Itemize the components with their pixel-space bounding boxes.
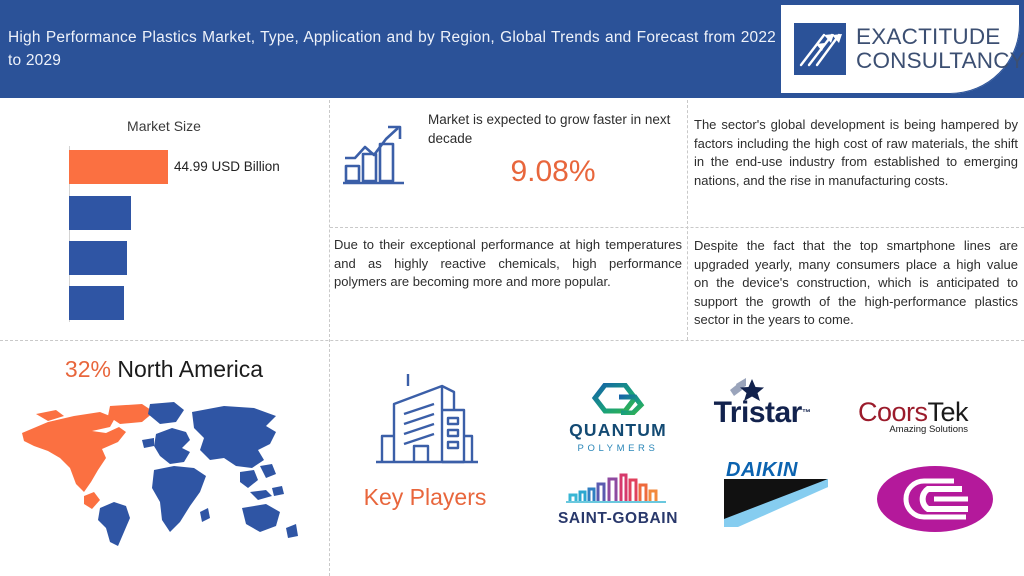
tristar-trademark: ™	[802, 408, 811, 418]
coorstek-wordmark-icon: CoorsTek Amazing Solutions	[858, 397, 968, 435]
infographic-page: High Performance Plastics Market, Type, …	[0, 0, 1024, 576]
quantum-subtitle: POLYMERS	[569, 443, 667, 454]
coors-part-b: Tek	[928, 397, 969, 427]
growth-headline: Market is expected to grow faster in nex…	[428, 110, 678, 148]
chart-bar[interactable]	[69, 286, 124, 320]
tristar-star-icon	[728, 378, 768, 404]
region-heading: 32% North America	[0, 356, 328, 383]
chart-value-label: 44.99 USD Billion	[174, 159, 280, 174]
logo-quantum-polymers: QUANTUM POLYMERS	[548, 382, 688, 454]
divider-vertical-right	[687, 100, 688, 340]
logo-coorstek: CoorsTek Amazing Solutions	[838, 386, 988, 446]
logo-tristar: Tristar™	[692, 382, 832, 444]
daikin-triangle-icon: DAIKIN	[724, 461, 836, 527]
upward-arrows-icon	[794, 23, 846, 75]
driver-paragraph: Due to their exceptional performance at …	[334, 236, 682, 292]
company-logo-text: EXACTITUDE CONSULTANCY	[856, 25, 1024, 72]
key-players-panel: Key Players	[330, 356, 520, 556]
divider-horizontal-mid	[330, 227, 1024, 228]
coors-part-a: Coors	[858, 397, 928, 427]
chart-plot-area: 2029 44.99 USD Billion 2022 2021 2020	[34, 146, 314, 322]
logo-line-1: EXACTITUDE	[856, 25, 1024, 49]
chart-bar[interactable]	[69, 241, 127, 275]
growth-chart-icon	[340, 118, 410, 190]
key-players-label: Key Players	[330, 484, 520, 511]
chart-bar[interactable]	[69, 150, 168, 184]
page-title: High Performance Plastics Market, Type, …	[8, 26, 776, 72]
office-building-icon	[368, 370, 484, 470]
chart-title: Market Size	[0, 118, 328, 134]
purple-oval-e-icon	[876, 465, 994, 533]
world-map-icon	[14, 396, 314, 546]
logo-evonik	[872, 462, 998, 536]
logo-line-2: CONSULTANCY	[856, 49, 1024, 73]
growth-rate-panel: Market is expected to grow faster in nex…	[330, 100, 686, 224]
saint-gobain-skyline-icon	[564, 471, 672, 505]
header-banner: High Performance Plastics Market, Type, …	[0, 0, 1024, 98]
region-percentage: 32%	[65, 356, 111, 382]
region-share-panel: 32% North America	[0, 340, 328, 576]
quantum-name: QUANTUM	[569, 420, 667, 441]
quantum-hexagon-icon	[591, 383, 645, 415]
region-name: North America	[117, 356, 263, 382]
daikin-name: DAIKIN	[726, 459, 798, 482]
growth-cagr-value: 9.08%	[428, 155, 678, 189]
logo-daikin: DAIKIN	[718, 458, 842, 530]
company-logo: EXACTITUDE CONSULTANCY	[780, 4, 1020, 94]
opportunity-paragraph: Despite the fact that the top smartphone…	[694, 237, 1018, 330]
restraint-paragraph: The sector's global development is being…	[694, 116, 1018, 190]
logo-saint-gobain: SAINT-GOBAIN	[548, 468, 688, 530]
saint-gobain-name: SAINT-GOBAIN	[558, 510, 678, 528]
market-size-chart: Market Size 2029 44.99 USD Billion 2022 …	[0, 100, 328, 338]
chart-bar[interactable]	[69, 196, 131, 230]
